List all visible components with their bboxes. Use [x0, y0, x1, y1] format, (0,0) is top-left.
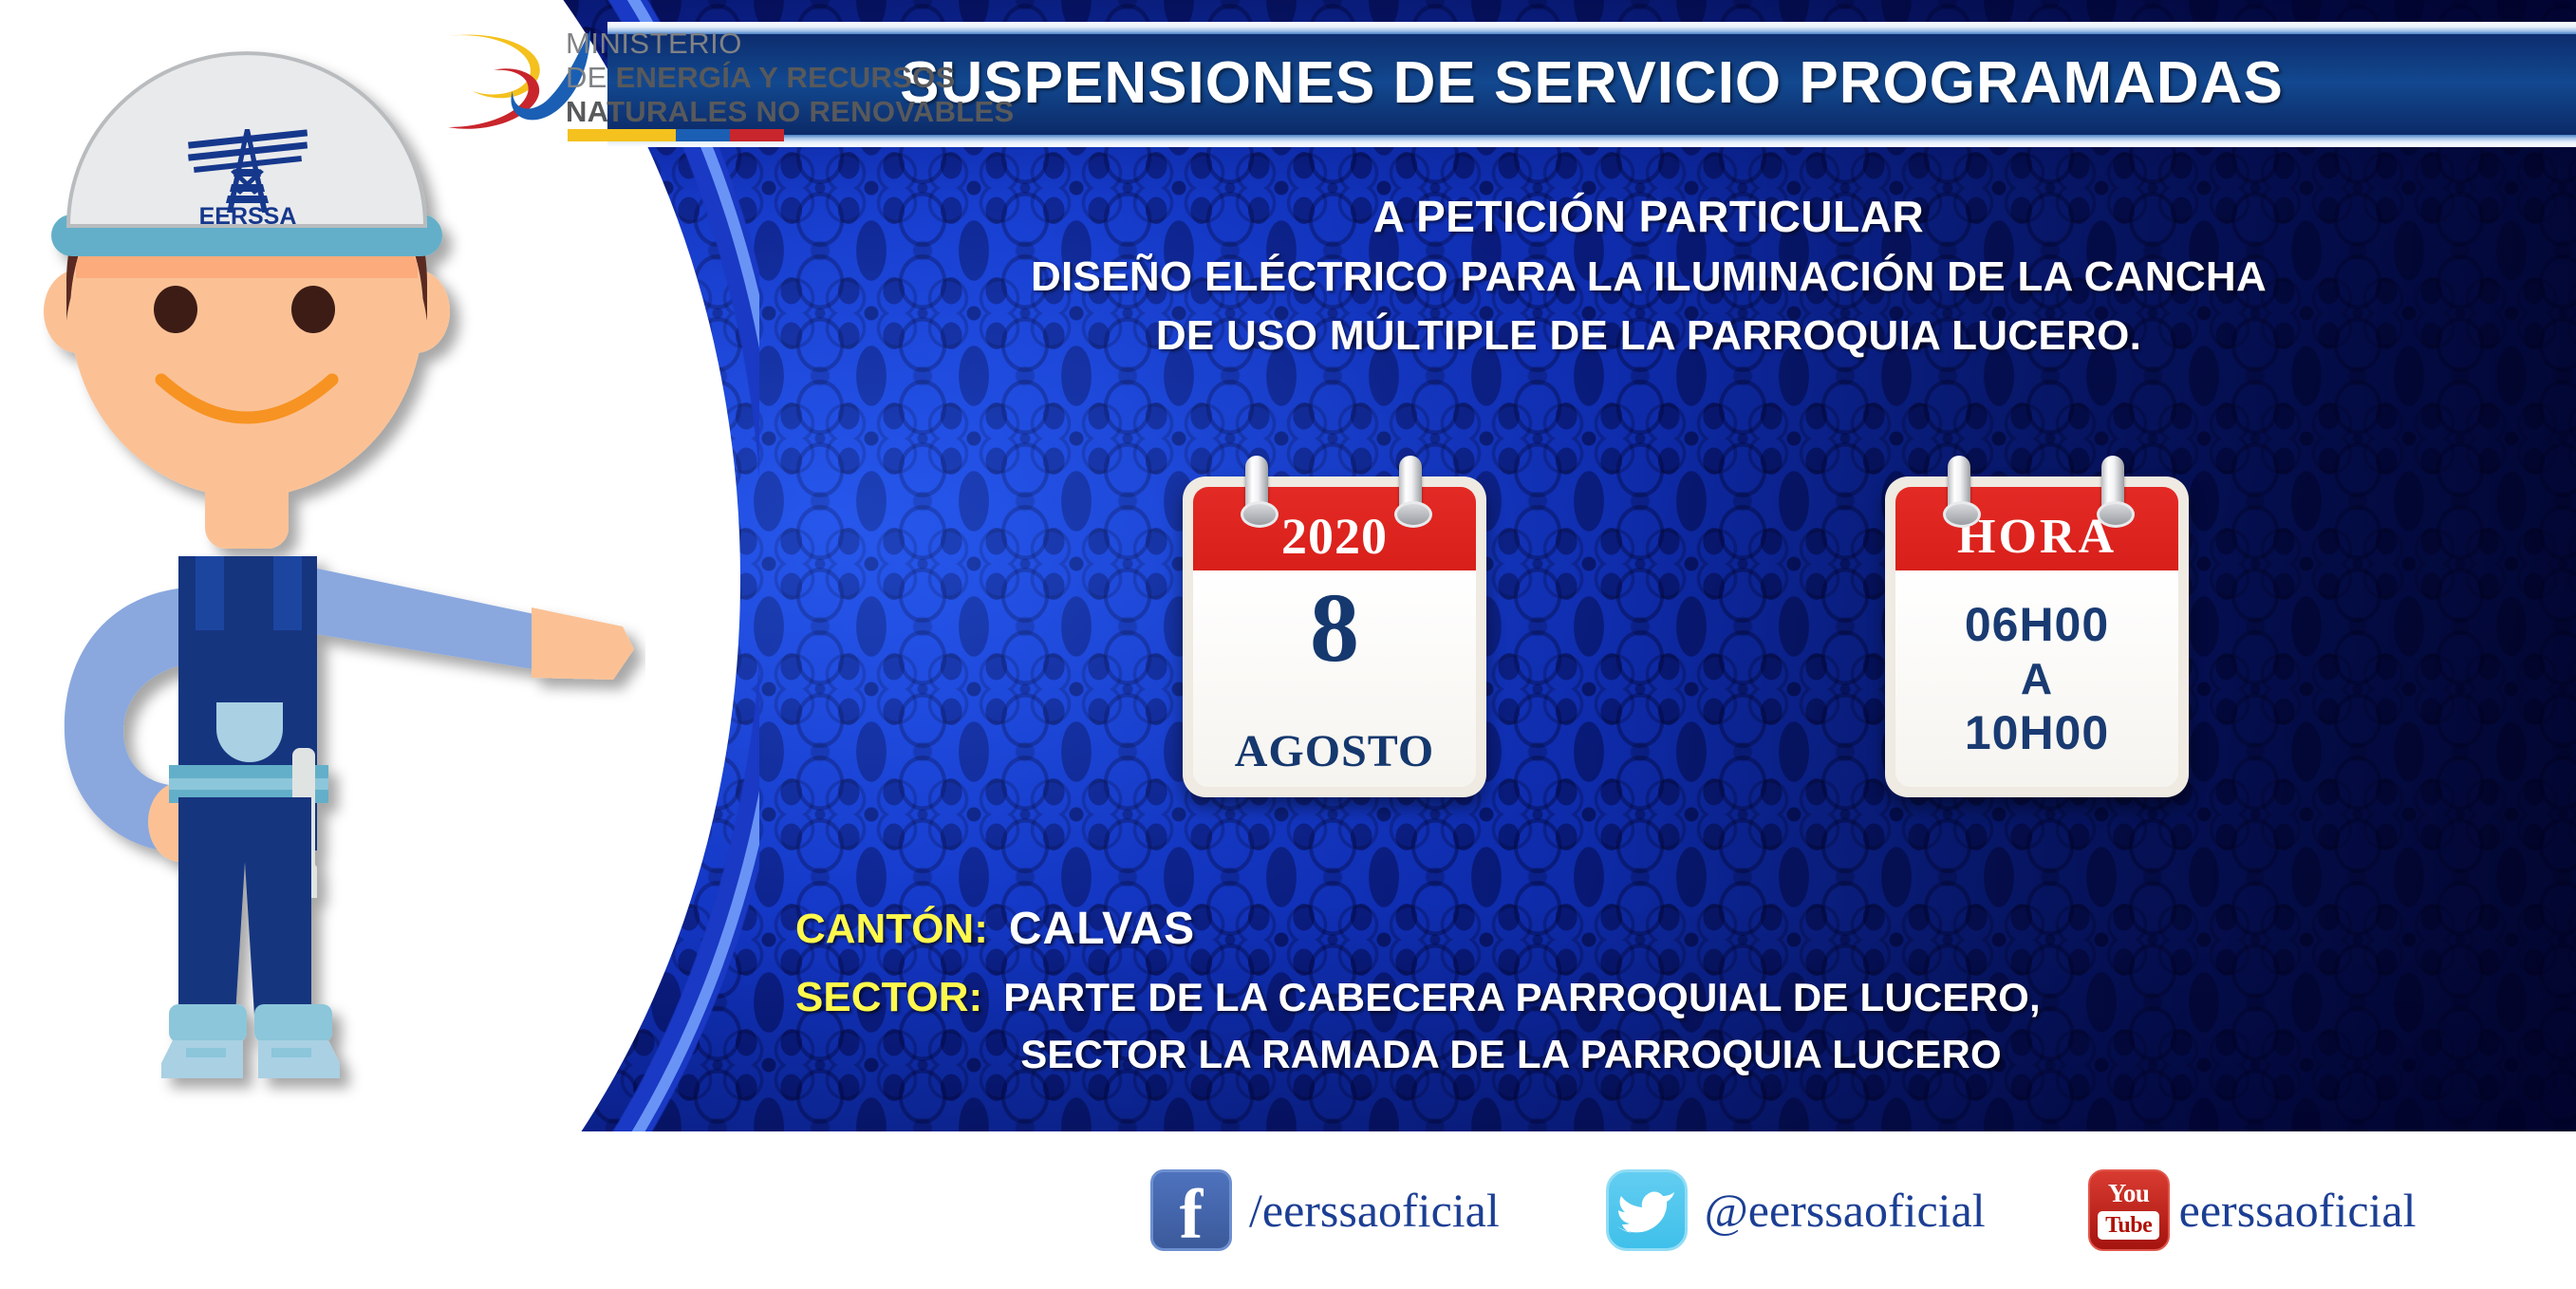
facebook-icon[interactable]: f [1150, 1169, 1232, 1251]
sector-value-line-1: PARTE DE LA CABECERA PARROQUIAL DE LUCER… [1003, 975, 2041, 1019]
mascot-neck [205, 473, 289, 549]
calendar-body: 2020 8 AGOSTO [1183, 476, 1486, 797]
ministry-name-text: MINISTERIO DE ENERGÍA Y RECURSOS NATURAL… [566, 27, 1015, 129]
mascot-eye-left [154, 286, 197, 333]
facebook-handle: /eerssaoficial [1249, 1183, 1500, 1238]
subtitle-line-2: DISEÑO ELÉCTRICO PARA LA ILUMINACIÓN DE … [721, 248, 2576, 307]
mascot-legs [178, 797, 311, 1016]
canton-value: CALVAS [1009, 904, 1195, 955]
poster-root: EERSSA [0, 0, 2576, 1289]
canton-label: CANTÓN: [795, 904, 988, 955]
mascot-hand-right [532, 607, 634, 680]
ministry-line-2: DE ENERGÍA Y RECURSOS [566, 61, 1015, 95]
facebook-icon-glyph: f [1180, 1180, 1204, 1250]
calendar-day-number: 8 [1193, 578, 1476, 679]
facebook-link[interactable]: f /eerssaoficial [1150, 1169, 1500, 1251]
ministry-line-2-thin: DE [566, 61, 616, 94]
hour-calendar-face: 06H00 A 10H00 [1895, 570, 2178, 787]
youtube-link[interactable]: You Tube eerssaoficial [2088, 1169, 2417, 1251]
date-calendar-widget: 2020 8 AGOSTO [1183, 476, 1486, 797]
subtitle-block: A PETICIÓN PARTICULAR DISEÑO ELÉCTRICO P… [721, 185, 2576, 365]
sector-row: SECTOR: PARTE DE LA CABECERA PARROQUIAL … [795, 972, 2504, 1080]
flag-stripe-blue [676, 129, 730, 141]
mascot-arm-right [304, 566, 539, 670]
sector-value: PARTE DE LA CABECERA PARROQUIAL DE LUCER… [1003, 972, 2041, 1080]
canton-row: CANTÓN: CALVAS [795, 904, 2504, 955]
hour-calendar-rings [1885, 456, 2189, 522]
twitter-link[interactable]: @eerssaoficial [1606, 1169, 1986, 1251]
hour-end-time: 10H00 [1965, 704, 2109, 761]
flag-stripe-red [730, 129, 784, 141]
subtitle-line-1: A PETICIÓN PARTICULAR [721, 185, 2576, 248]
calendar-ring-right [1399, 456, 1422, 522]
sector-value-line-2: SECTOR LA RAMADA DE LA PARROQUIA LUCERO [1003, 1029, 2041, 1080]
hour-calendar-ring-left [1948, 456, 1970, 522]
twitter-icon[interactable] [1606, 1169, 1688, 1251]
helmet-logo-text: EERSSA [199, 203, 297, 230]
mascot-electrician-illustration: EERSSA [19, 27, 645, 1128]
mascot-eye-right [291, 286, 335, 333]
calendar-month-name: AGOSTO [1193, 725, 1476, 777]
hour-calendar-ring-right [2101, 456, 2124, 522]
mascot-boot-right [254, 1004, 340, 1078]
ministry-line-1: MINISTERIO [566, 27, 1015, 61]
twitter-bird-glyph [1617, 1186, 1676, 1234]
hour-calendar-body: HORA 06H00 A 10H00 [1885, 476, 2189, 797]
ministry-line-3: NATURALES NO RENOVABLES [566, 95, 1015, 129]
youtube-word-bottom: Tube [2098, 1211, 2159, 1240]
calendar-face: 8 AGOSTO [1193, 570, 1476, 787]
calendar-ring-left [1245, 456, 1268, 522]
sector-label: SECTOR: [795, 972, 982, 1023]
twitter-handle: @eerssaoficial [1705, 1183, 1986, 1238]
subtitle-line-3: DE USO MÚLTIPLE DE LA PARROQUIA LUCERO. [721, 307, 2576, 365]
hour-calendar-widget: HORA 06H00 A 10H00 [1885, 476, 2189, 797]
flag-stripe-yellow [568, 129, 676, 141]
social-links-bar: f /eerssaoficial @eerssaoficial You Tube… [1139, 1131, 2576, 1289]
hour-start-time: 06H00 [1965, 596, 2109, 653]
ministry-flag-bar [568, 129, 784, 141]
mascot-boot-left [161, 1004, 247, 1078]
ministry-line-2-bold: ENERGÍA Y RECURSOS [616, 61, 956, 94]
hour-separator: A [2021, 653, 2053, 704]
location-details-block: CANTÓN: CALVAS SECTOR: PARTE DE LA CABEC… [795, 904, 2504, 1097]
calendar-rings [1183, 456, 1486, 522]
youtube-word-top: You [2108, 1181, 2150, 1206]
youtube-icon[interactable]: You Tube [2088, 1169, 2170, 1251]
youtube-handle: eerssaoficial [2179, 1183, 2417, 1238]
